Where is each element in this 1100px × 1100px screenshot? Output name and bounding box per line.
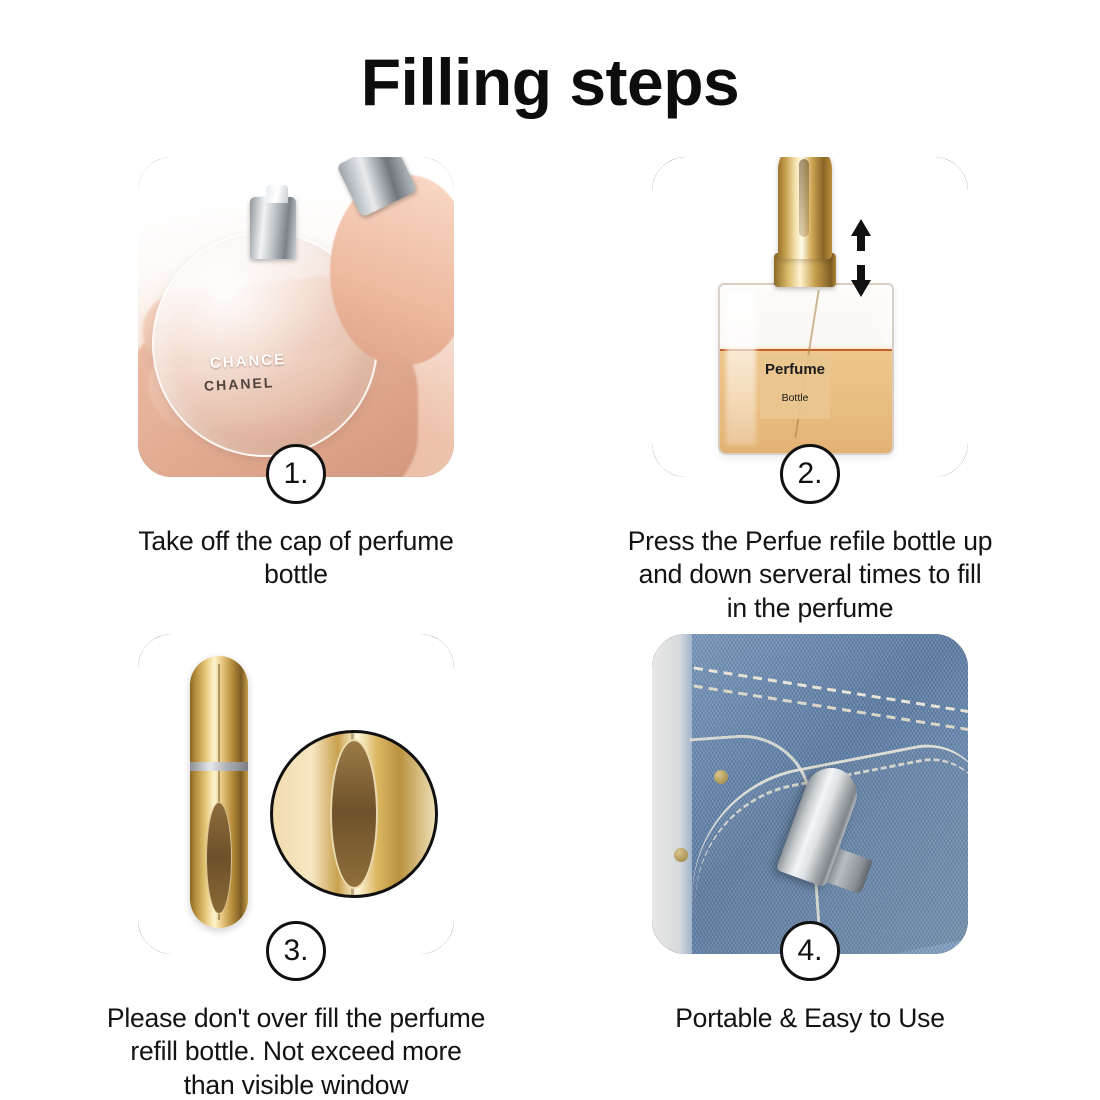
step-card-1: CHANCE CHANEL 1. Take off the cap of per… (76, 157, 516, 592)
atomizer-ring-icon (190, 762, 248, 771)
step-caption-2: Press the Perfue refile bottle up and do… (590, 525, 1030, 625)
page-title: Filling steps (0, 44, 1100, 120)
step-2-image-card: Perfume Bottle 2. (652, 157, 968, 477)
step-4-image-card: 4. (652, 634, 968, 954)
step-1-photo: CHANCE CHANEL (138, 157, 454, 477)
step-caption-3: Please don't over fill the perfume refil… (76, 1002, 516, 1100)
step-caption-4: Portable & Easy to Use (590, 1002, 1030, 1035)
jeans-rivet-icon (714, 770, 728, 784)
jeans-rivet-icon (674, 848, 688, 862)
step-card-4: 4. Portable & Easy to Use (590, 634, 1030, 1035)
perfume-bottle-label: Perfume Bottle (760, 355, 830, 419)
step-number-badge-3: 3. (266, 921, 326, 981)
background-wall (652, 634, 692, 954)
step-2-photo: Perfume Bottle (652, 157, 968, 477)
step-number-badge-1: 1. (266, 444, 326, 504)
step-number-badge-4: 4. (780, 921, 840, 981)
perfume-label-subtitle: Bottle (760, 392, 830, 404)
infographic-page: Filling steps CHANCE CHANEL 1. Take off … (0, 0, 1100, 1100)
bottle-neck-icon (250, 197, 296, 259)
gold-atomizer-icon (778, 157, 832, 259)
step-3-photo (138, 634, 454, 954)
step-card-2: Perfume Bottle 2. Press the Perfue refil… (590, 157, 1030, 625)
step-caption-1: Take off the cap of perfume bottle (76, 525, 516, 592)
step-number-badge-2: 2. (780, 444, 840, 504)
step-card-3: 3. Please don't over fill the perfume re… (76, 634, 516, 1100)
bottle-nozzle-icon (266, 185, 288, 203)
step-1-image-card: CHANCE CHANEL 1. (138, 157, 454, 477)
step-4-photo (652, 634, 968, 954)
up-down-arrow-icon (848, 219, 874, 297)
perfume-label-title: Perfume (760, 361, 830, 378)
magnified-window-inset (270, 730, 438, 898)
visible-window-icon (206, 802, 232, 914)
glass-highlight (726, 291, 756, 445)
step-3-image-card: 3. (138, 634, 454, 954)
magnified-visible-window-icon (330, 739, 378, 889)
